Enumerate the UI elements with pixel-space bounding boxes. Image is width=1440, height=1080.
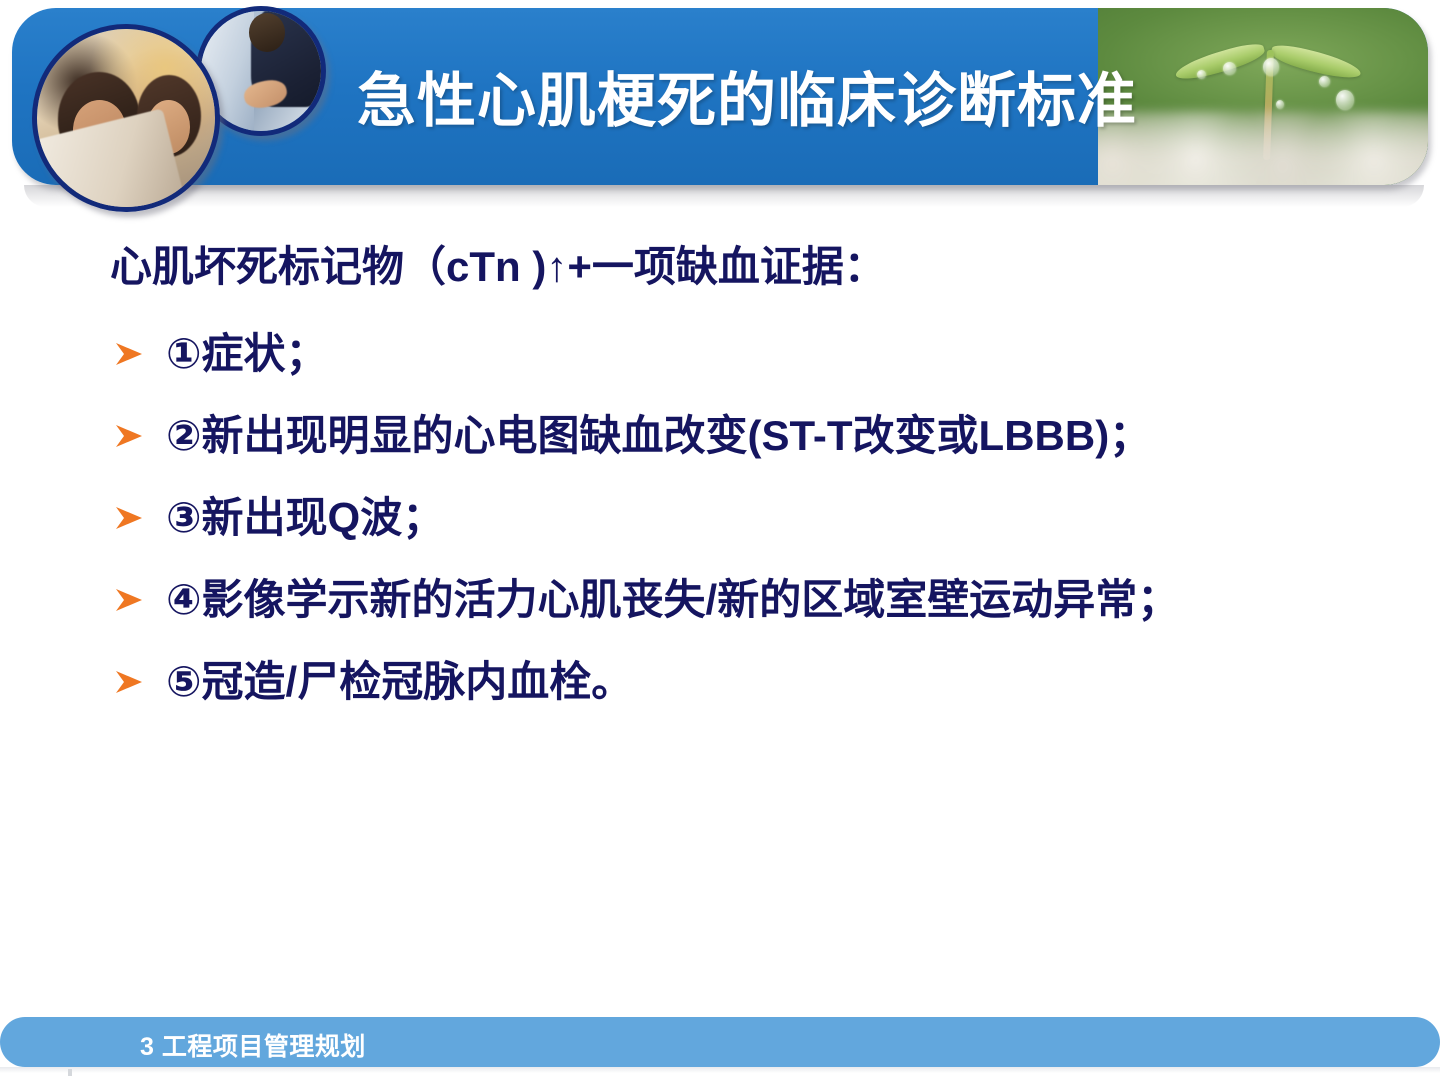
office-photo-face-right (147, 100, 190, 153)
office-people-photo (32, 24, 220, 212)
list-item-label: ⑤冠造/尸检冠脉内血栓。 (166, 658, 633, 705)
list-item: ③新出现Q波； (110, 477, 1440, 559)
handshake-photo-head (249, 13, 285, 51)
arrow-bullet-icon (112, 419, 146, 453)
list-item: ②新出现明显的心电图缺血改变(ST-T改变或LBBB)； (110, 395, 1440, 477)
arrow-bullet-icon (112, 501, 146, 535)
list-item: ④影像学示新的活力心肌丧失/新的区域室壁运动异常； (110, 559, 1440, 641)
list-item: ①症状； (110, 313, 1440, 395)
slide-root: 急性心肌梗死的临床诊断标准 心肌坏死标记物（cTn )↑+一项缺血证据： (0, 0, 1440, 1080)
footer-bar-shadow (0, 1067, 1440, 1073)
list-item-label: ④影像学示新的活力心肌丧失/新的区域室壁运动异常； (166, 576, 1179, 623)
footer-tick-mark (68, 1069, 72, 1076)
office-photo-face-left (73, 100, 126, 161)
footer-number: 3 (140, 1033, 154, 1061)
list-item-label: ②新出现明显的心电图缺血改变(ST-T改变或LBBB)； (166, 412, 1151, 459)
list-item-label: ③新出现Q波； (166, 494, 444, 541)
header-band-shadow (24, 185, 1424, 207)
lead-statement: 心肌坏死标记物（cTn )↑+一项缺血证据： (110, 235, 1440, 299)
dew-drop (1336, 90, 1354, 110)
footer-label: 3 工程项目管理规划 (140, 1027, 366, 1063)
office-photo-fill (37, 29, 215, 207)
dew-drop (1263, 58, 1279, 76)
arrow-bullet-icon (112, 583, 146, 617)
list-item-label: ①症状； (166, 330, 328, 377)
page-title: 急性心肌梗死的临床诊断标准 (357, 66, 1237, 136)
criteria-list: ①症状； ②新出现明显的心电图缺血改变(ST-T改变或LBBB)； ③新出现Q波… (0, 313, 1440, 723)
slide-content: 心肌坏死标记物（cTn )↑+一项缺血证据： ①症状； ②新出现明显的心电图缺血… (0, 235, 1440, 723)
arrow-bullet-icon (112, 337, 146, 371)
arrow-bullet-icon (112, 665, 146, 699)
footer-section-title: 工程项目管理规划 (162, 1033, 366, 1061)
list-item: ⑤冠造/尸检冠脉内血栓。 (110, 641, 1440, 723)
